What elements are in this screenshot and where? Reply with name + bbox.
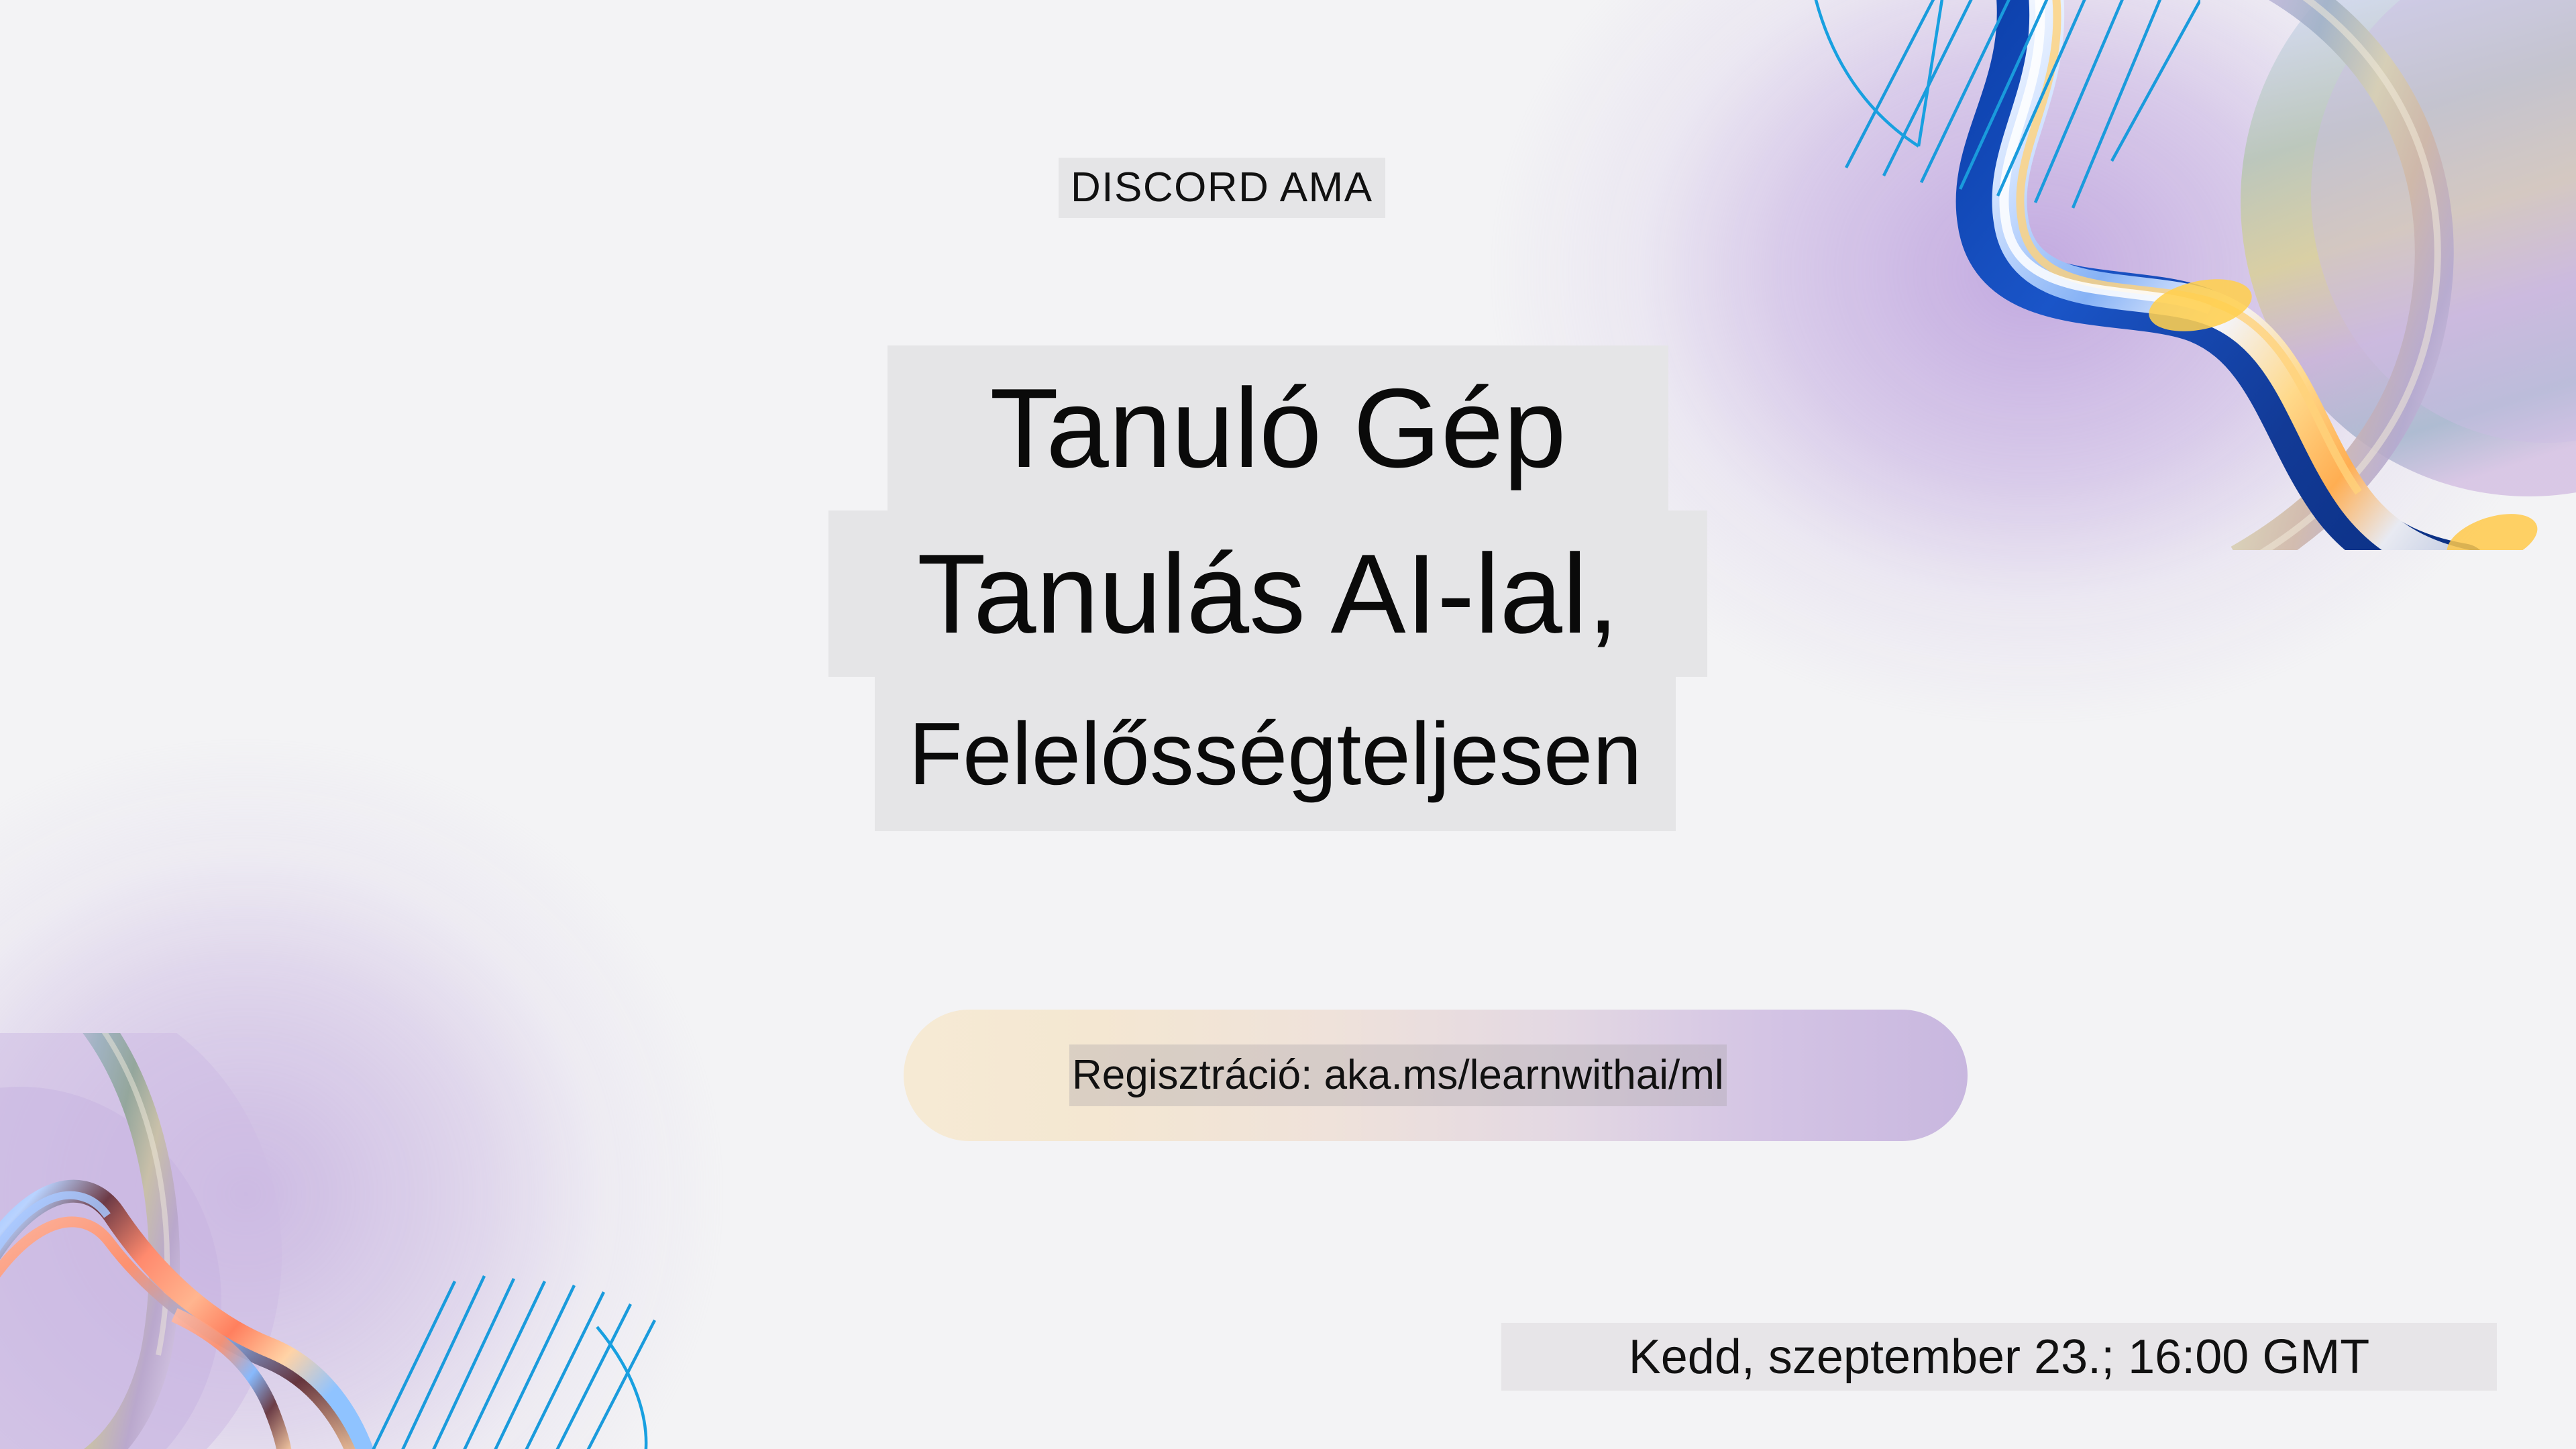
title-line-2-text: Tanulás AI-lal,: [828, 511, 1707, 677]
event-date-text: Kedd, szeptember 23.; 16:00 GMT: [1629, 1330, 2370, 1385]
title-line-1-text: Tanuló Gép: [888, 345, 1668, 511]
presentation-slide: DISCORD AMA Tanuló Gép Tanulás AI-lal, F…: [0, 0, 2576, 1449]
registration-cta-button[interactable]: Regisztráció: aka.ms/learnwithai/ml: [904, 1010, 1968, 1141]
registration-cta-label: Regisztráció: aka.ms/learnwithai/ml: [1069, 1044, 1727, 1106]
event-date-badge: Kedd, szeptember 23.; 16:00 GMT: [1501, 1323, 2497, 1391]
eyebrow-label: DISCORD AMA: [1059, 158, 1385, 218]
title-line-2: Tanulás AI-lal,: [0, 511, 2576, 677]
title-line-3-text: Felelősségteljesen: [875, 677, 1675, 831]
title-line-1: Tanuló Gép: [0, 345, 2576, 511]
title-line-3: Felelősségteljesen: [0, 677, 2576, 831]
bottom-left-purple-glow: [0, 738, 724, 1449]
page-title: Tanuló Gép Tanulás AI-lal, Felelősségtel…: [0, 345, 2576, 831]
